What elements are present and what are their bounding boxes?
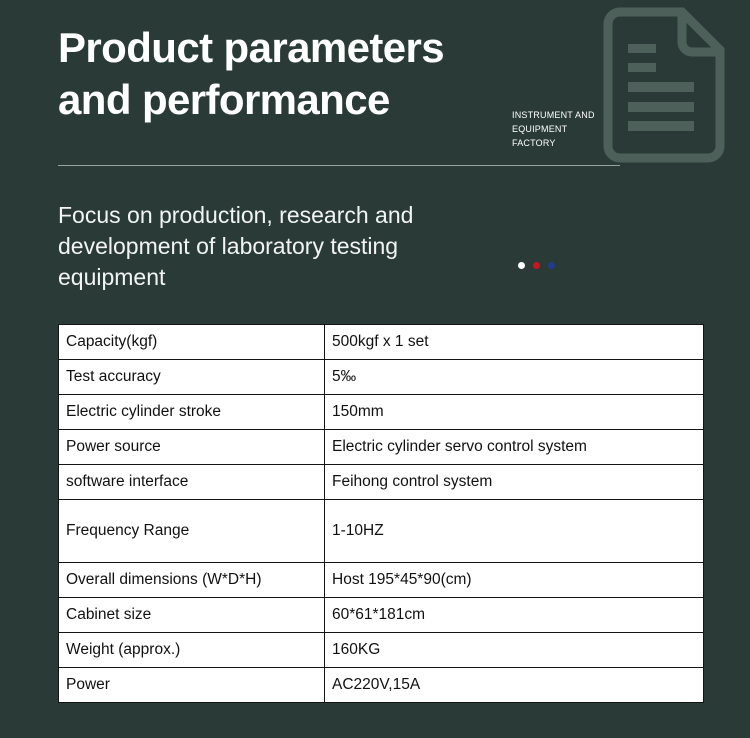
table-row: Frequency Range1-10HZ (59, 500, 704, 563)
table-row: Test accuracy5‰ (59, 360, 704, 395)
table-row: Cabinet size60*61*181cm (59, 598, 704, 633)
logo-line-2: EQUIPMENT (512, 122, 607, 136)
page-title: Product parameters and performance (58, 22, 528, 126)
table-row: Weight (approx.)160KG (59, 633, 704, 668)
title-divider (58, 165, 620, 166)
table-cell-key: Cabinet size (59, 598, 325, 633)
table-cell-key: Overall dimensions (W*D*H) (59, 563, 325, 598)
table-row: Overall dimensions (W*D*H)Host 195*45*90… (59, 563, 704, 598)
document-icon (596, 6, 732, 164)
table-cell-key: Weight (approx.) (59, 633, 325, 668)
specification-table: Capacity(kgf)500kgf x 1 setTest accuracy… (58, 324, 704, 703)
table-cell-value: 60*61*181cm (325, 598, 704, 633)
table-cell-key: software interface (59, 465, 325, 500)
table-cell-key: Frequency Range (59, 500, 325, 563)
table-cell-key: Test accuracy (59, 360, 325, 395)
table-cell-value: 5‰ (325, 360, 704, 395)
table-cell-value: Host 195*45*90(cm) (325, 563, 704, 598)
logo-text-block: INSTRUMENT AND EQUIPMENT FACTORY (512, 108, 607, 150)
logo-line-1: INSTRUMENT AND (512, 108, 607, 122)
logo-line-3: FACTORY (512, 136, 607, 150)
table-row: Power sourceElectric cylinder servo cont… (59, 430, 704, 465)
table-cell-value: 1-10HZ (325, 500, 704, 563)
carousel-dots[interactable] (518, 262, 555, 269)
table-cell-value: 160KG (325, 633, 704, 668)
table-cell-value: 500kgf x 1 set (325, 325, 704, 360)
table-row: Capacity(kgf)500kgf x 1 set (59, 325, 704, 360)
table-cell-value: Electric cylinder servo control system (325, 430, 704, 465)
table-cell-key: Power source (59, 430, 325, 465)
table-row: software interfaceFeihong control system (59, 465, 704, 500)
page-header: Product parameters and performance INSTR… (0, 0, 750, 180)
carousel-dot-red[interactable] (533, 262, 540, 269)
table-cell-key: Capacity(kgf) (59, 325, 325, 360)
table-cell-value: Feihong control system (325, 465, 704, 500)
table-cell-value: AC220V,15A (325, 668, 704, 703)
specification-table-wrapper: Capacity(kgf)500kgf x 1 setTest accuracy… (58, 324, 677, 703)
carousel-dot-blue[interactable] (548, 262, 555, 269)
table-cell-value: 150mm (325, 395, 704, 430)
page-subtitle: Focus on production, research and develo… (58, 200, 498, 293)
table-cell-key: Power (59, 668, 325, 703)
table-row: Electric cylinder stroke150mm (59, 395, 704, 430)
carousel-dot-white[interactable] (518, 262, 525, 269)
table-row: PowerAC220V,15A (59, 668, 704, 703)
table-cell-key: Electric cylinder stroke (59, 395, 325, 430)
